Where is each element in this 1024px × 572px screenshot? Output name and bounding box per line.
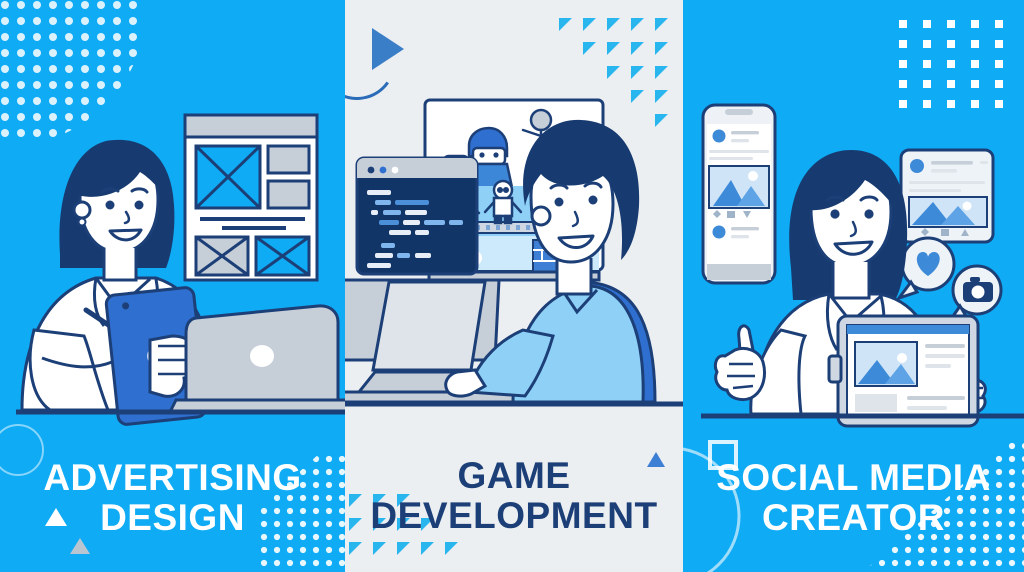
caption-social-media-creator: SOCIAL MEDIA CREATOR (683, 458, 1024, 538)
panel-advertising-design[interactable]: ADVERTISING DESIGN (0, 0, 345, 572)
caption-advertising-design: ADVERTISING DESIGN (0, 458, 345, 538)
smartphone-social-feed (703, 105, 775, 283)
caption-line-1: SOCIAL MEDIA (683, 458, 1024, 498)
poster-canvas: ADVERTISING DESIGN (0, 0, 1024, 572)
laptop (170, 306, 345, 412)
caption-line-1: GAME (345, 456, 683, 496)
square-dot-grid-top-right (899, 20, 1003, 108)
panel-social-media-creator[interactable]: SOCIAL MEDIA CREATOR (683, 0, 1024, 572)
wireframe-mockup-board (185, 115, 317, 280)
caption-line-2: DESIGN (0, 498, 345, 538)
caption-line-2: DEVELOPMENT (345, 496, 683, 536)
panel-game-development[interactable]: GAME DEVELOPMENT (345, 0, 683, 572)
tablet-post-card (829, 316, 978, 426)
code-editor-window (357, 158, 477, 274)
camera-bubble (949, 266, 1001, 322)
heart-bubble (899, 238, 954, 298)
caption-line-2: CREATOR (683, 498, 1024, 538)
caption-line-1: ADVERTISING (0, 458, 345, 498)
caption-game-development: GAME DEVELOPMENT (345, 456, 683, 536)
